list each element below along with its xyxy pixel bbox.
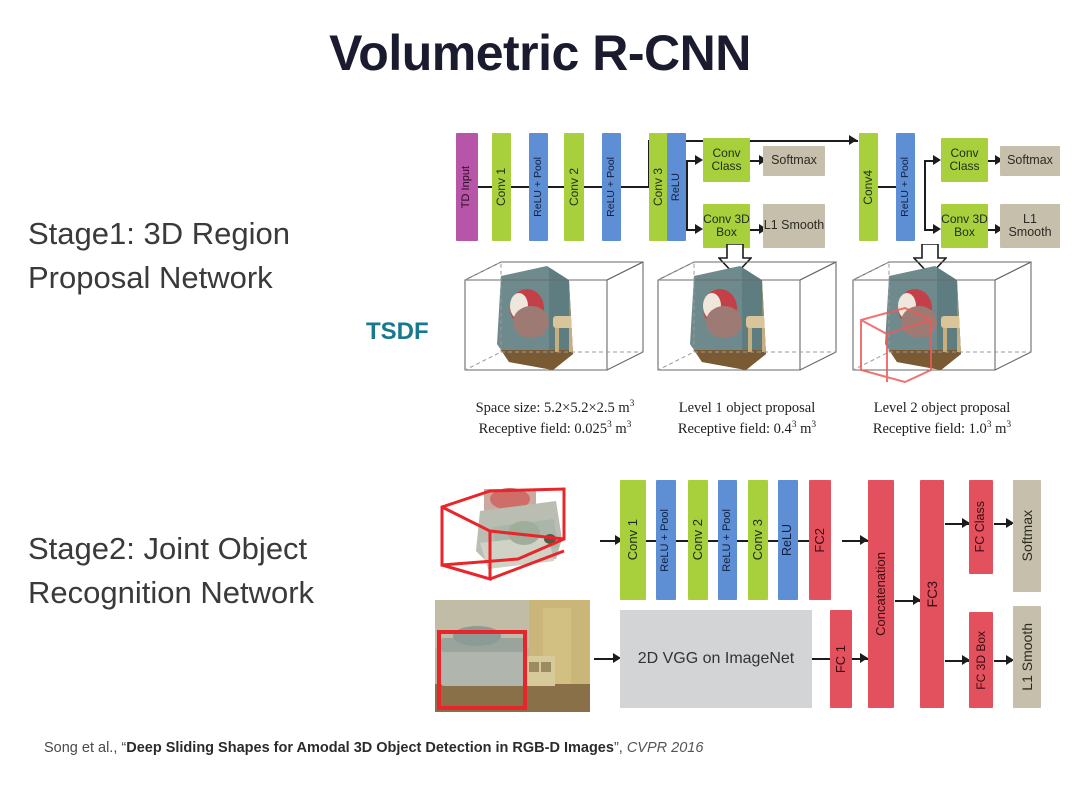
block-fc-class[interactable]: FC Class xyxy=(969,480,993,574)
block-relu-1[interactable]: ReLU xyxy=(667,133,686,241)
block-s-softmax[interactable]: Softmax xyxy=(1013,480,1041,592)
connector-line xyxy=(878,186,896,188)
arrow-icon xyxy=(860,535,868,545)
arrow-icon xyxy=(933,224,941,234)
block-s-conv2[interactable]: Conv 2 xyxy=(688,480,708,600)
block-relu-pool-3[interactable]: ReLU + Pool xyxy=(896,133,915,241)
block-s-conv3[interactable]: Conv 3 xyxy=(748,480,768,600)
block-softmax-2[interactable]: Softmax xyxy=(1000,146,1060,176)
block-fc-3dbox[interactable]: FC 3D Box xyxy=(969,612,993,708)
scene-cube-level1 xyxy=(650,258,845,390)
block-conv2[interactable]: Conv 2 xyxy=(564,133,584,241)
stage1-label: Stage1: 3D Region Proposal Network xyxy=(28,212,368,300)
block-s-fc1[interactable]: FC 1 xyxy=(830,610,852,708)
arrow-icon xyxy=(849,135,857,145)
tsdf-label: TSDF xyxy=(366,318,429,346)
input-rgb-image xyxy=(435,600,590,712)
block-conv4[interactable]: Conv4 xyxy=(859,133,878,241)
branch-vertical xyxy=(924,160,926,230)
connector-line xyxy=(675,540,688,542)
block-conv-3dbox-1[interactable]: Conv 3D Box xyxy=(703,204,750,248)
arrow-icon xyxy=(695,155,703,165)
block-s-relu-pool-1[interactable]: ReLU + Pool xyxy=(656,480,676,600)
stage2-label: Stage2: Joint Object Recognition Network xyxy=(28,527,388,615)
block-conv-class-2[interactable]: Conv Class xyxy=(941,138,988,182)
block-conv3[interactable]: Conv 3 xyxy=(649,133,668,241)
connector-line xyxy=(812,658,830,660)
arrow-icon xyxy=(860,653,868,663)
block-td-input[interactable]: TD Input xyxy=(456,133,478,241)
block-fc3[interactable]: FC3 xyxy=(920,480,944,708)
citation: Song et al., “Deep Sliding Shapes for Am… xyxy=(44,738,703,760)
block-l1-smooth-2[interactable]: L1 Smooth xyxy=(1000,204,1060,248)
block-conv1[interactable]: Conv 1 xyxy=(492,133,511,241)
arrow-icon xyxy=(695,224,703,234)
connector-line xyxy=(621,186,649,188)
arrow-icon xyxy=(933,155,941,165)
caption-level2: Level 2 object proposal Receptive field:… xyxy=(827,398,1057,440)
connector-line xyxy=(478,186,492,188)
block-s-conv1[interactable]: Conv 1 xyxy=(620,480,646,600)
scene-cube-level2 xyxy=(845,258,1040,390)
block-relu-pool-2[interactable]: ReLU + Pool xyxy=(602,133,621,241)
connector-line xyxy=(548,186,564,188)
block-s-fc2[interactable]: FC2 xyxy=(809,480,831,600)
connector-line xyxy=(584,186,602,188)
branch-vertical xyxy=(686,160,688,230)
block-s-relu[interactable]: ReLU xyxy=(778,480,798,600)
citation-title: Deep Sliding Shapes for Amodal 3D Object… xyxy=(126,740,614,756)
input-3d-pointcloud xyxy=(428,487,598,597)
block-s-relu-pool-2[interactable]: ReLU + Pool xyxy=(718,480,737,600)
block-softmax-1[interactable]: Softmax xyxy=(763,146,825,176)
block-conv-class-1[interactable]: Conv Class xyxy=(703,138,750,182)
block-concatenation[interactable]: Concatenation xyxy=(868,480,894,708)
citation-venue: CVPR 2016 xyxy=(627,740,704,756)
citation-authors: Song et al., “ xyxy=(44,740,126,756)
page-title: Volumetric R-CNN xyxy=(0,24,1080,82)
block-l1-smooth-1[interactable]: L1 Smooth xyxy=(763,204,825,248)
connector-line xyxy=(511,186,529,188)
scene-cube-tsdf xyxy=(457,258,652,390)
block-s-l1-smooth[interactable]: L1 Smooth xyxy=(1013,606,1041,708)
block-2d-vgg-imagenet[interactable]: 2D VGG on ImageNet xyxy=(620,610,812,708)
block-conv-3dbox-2[interactable]: Conv 3D Box xyxy=(941,204,988,248)
block-relu-pool-1[interactable]: ReLU + Pool xyxy=(529,133,548,241)
citation-closing: ”, xyxy=(614,740,627,756)
